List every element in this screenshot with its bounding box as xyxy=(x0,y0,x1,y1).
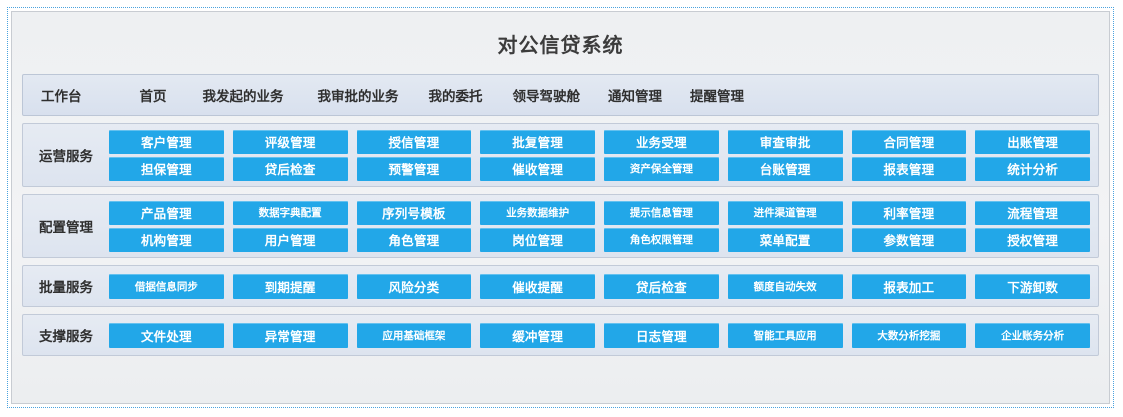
module-row-label-3: 支撑服务 xyxy=(23,325,109,345)
module-tile-grid-0: 客户管理评级管理授信管理批复管理业务受理审查审批合同管理出账管理担保管理贷后检查… xyxy=(109,130,1090,181)
module-tile[interactable]: 参数管理 xyxy=(852,228,967,252)
module-tile[interactable]: 报表加工 xyxy=(852,274,967,299)
module-tile[interactable]: 日志管理 xyxy=(604,323,719,348)
nav-item-5[interactable]: 领导驾驶舱 xyxy=(513,85,581,105)
module-tile[interactable]: 产品管理 xyxy=(109,201,224,225)
module-tile[interactable]: 数据字典配置 xyxy=(233,201,348,225)
module-tile[interactable]: 审查审批 xyxy=(728,130,843,154)
module-panels: 运营服务客户管理评级管理授信管理批复管理业务受理审查审批合同管理出账管理担保管理… xyxy=(22,116,1099,395)
main-navigation: 工作台首页我发起的业务我审批的业务我的委托领导驾驶舱通知管理提醒管理 xyxy=(22,74,1099,116)
nav-item-0[interactable]: 工作台 xyxy=(41,85,82,105)
module-tile[interactable]: 统计分析 xyxy=(975,157,1090,181)
module-tile[interactable]: 出账管理 xyxy=(975,130,1090,154)
module-tile[interactable]: 担保管理 xyxy=(109,157,224,181)
module-tile[interactable]: 额度自动失效 xyxy=(728,274,843,299)
module-tile[interactable]: 角色权限管理 xyxy=(604,228,719,252)
nav-item-7[interactable]: 提醒管理 xyxy=(690,85,744,105)
module-tile[interactable]: 预警管理 xyxy=(357,157,472,181)
module-tile[interactable]: 菜单配置 xyxy=(728,228,843,252)
module-tile[interactable]: 文件处理 xyxy=(109,323,224,348)
module-tile[interactable]: 序列号模板 xyxy=(357,201,472,225)
module-tile[interactable]: 利率管理 xyxy=(852,201,967,225)
module-tile[interactable]: 异常管理 xyxy=(233,323,348,348)
module-tile[interactable]: 授信管理 xyxy=(357,130,472,154)
nav-item-4[interactable]: 我的委托 xyxy=(429,85,483,105)
module-row-3: 支撑服务文件处理异常管理应用基础框架缓冲管理日志管理智能工具应用大数分析挖掘企业… xyxy=(22,314,1099,356)
module-tile[interactable]: 催收管理 xyxy=(480,157,595,181)
module-tile[interactable]: 合同管理 xyxy=(852,130,967,154)
nav-item-1[interactable]: 首页 xyxy=(140,85,167,105)
module-tile[interactable]: 贷后检查 xyxy=(233,157,348,181)
nav-item-3[interactable]: 我审批的业务 xyxy=(318,85,399,105)
module-tile[interactable]: 进件渠道管理 xyxy=(728,201,843,225)
module-tile-grid-2: 借据信息同步到期提醒风险分类催收提醒贷后检查额度自动失效报表加工下游卸数 xyxy=(109,274,1090,299)
module-tile[interactable]: 流程管理 xyxy=(975,201,1090,225)
module-tile[interactable]: 授权管理 xyxy=(975,228,1090,252)
module-row-0: 运营服务客户管理评级管理授信管理批复管理业务受理审查审批合同管理出账管理担保管理… xyxy=(22,123,1099,187)
module-tile-grid-3: 文件处理异常管理应用基础框架缓冲管理日志管理智能工具应用大数分析挖掘企业账务分析 xyxy=(109,323,1090,348)
module-tile-grid-1: 产品管理数据字典配置序列号模板业务数据维护提示信息管理进件渠道管理利率管理流程管… xyxy=(109,201,1090,252)
module-tile[interactable]: 评级管理 xyxy=(233,130,348,154)
module-row-2: 批量服务借据信息同步到期提醒风险分类催收提醒贷后检查额度自动失效报表加工下游卸数 xyxy=(22,265,1099,307)
module-tile[interactable]: 业务受理 xyxy=(604,130,719,154)
module-tile[interactable]: 应用基础框架 xyxy=(357,323,472,348)
module-row-label-1: 配置管理 xyxy=(23,216,109,236)
module-row-label-2: 批量服务 xyxy=(23,276,109,296)
module-tile[interactable]: 台账管理 xyxy=(728,157,843,181)
module-tile[interactable]: 缓冲管理 xyxy=(480,323,595,348)
module-tile[interactable]: 报表管理 xyxy=(852,157,967,181)
module-tile[interactable]: 角色管理 xyxy=(357,228,472,252)
module-tile[interactable]: 风险分类 xyxy=(357,274,472,299)
module-tile[interactable]: 资产保全管理 xyxy=(604,157,719,181)
module-tile[interactable]: 客户管理 xyxy=(109,130,224,154)
title-bar: 对公信贷系统 xyxy=(22,12,1099,74)
module-tile[interactable]: 催收提醒 xyxy=(480,274,595,299)
module-tile[interactable]: 业务数据维护 xyxy=(480,201,595,225)
page-frame: 对公信贷系统 工作台首页我发起的业务我审批的业务我的委托领导驾驶舱通知管理提醒管… xyxy=(7,7,1114,408)
module-tile[interactable]: 机构管理 xyxy=(109,228,224,252)
module-tile[interactable]: 提示信息管理 xyxy=(604,201,719,225)
app-window: 对公信贷系统 工作台首页我发起的业务我审批的业务我的委托领导驾驶舱通知管理提醒管… xyxy=(11,11,1110,404)
module-tile[interactable]: 企业账务分析 xyxy=(975,323,1090,348)
module-tile[interactable]: 岗位管理 xyxy=(480,228,595,252)
module-row-1: 配置管理产品管理数据字典配置序列号模板业务数据维护提示信息管理进件渠道管理利率管… xyxy=(22,194,1099,258)
module-tile[interactable]: 用户管理 xyxy=(233,228,348,252)
module-tile[interactable]: 大数分析挖掘 xyxy=(852,323,967,348)
module-tile[interactable]: 批复管理 xyxy=(480,130,595,154)
nav-item-2[interactable]: 我发起的业务 xyxy=(203,85,284,105)
module-tile[interactable]: 智能工具应用 xyxy=(728,323,843,348)
module-tile[interactable]: 贷后检查 xyxy=(604,274,719,299)
module-tile[interactable]: 到期提醒 xyxy=(233,274,348,299)
module-row-label-0: 运营服务 xyxy=(23,145,109,165)
nav-item-6[interactable]: 通知管理 xyxy=(608,85,662,105)
module-tile[interactable]: 借据信息同步 xyxy=(109,274,224,299)
module-tile[interactable]: 下游卸数 xyxy=(975,274,1090,299)
page-title: 对公信贷系统 xyxy=(498,29,624,58)
